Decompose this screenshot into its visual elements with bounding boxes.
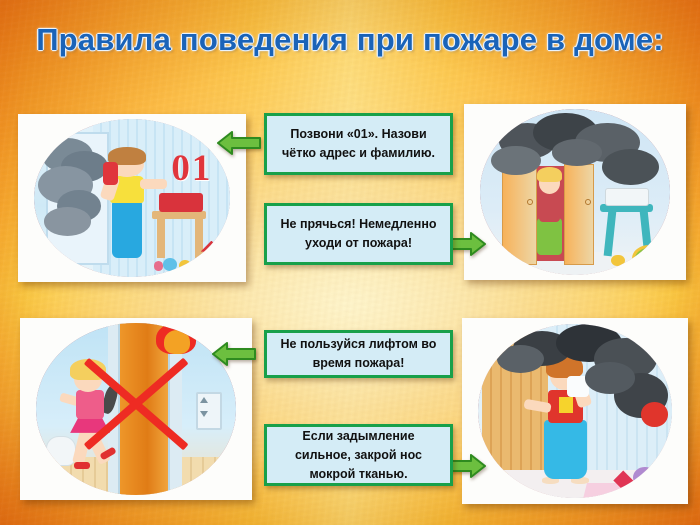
picture-girl-covering-nose-with-cloth: [462, 318, 688, 504]
girl-hair: [537, 167, 562, 182]
toy-ball: [633, 467, 656, 488]
door-knob: [585, 199, 591, 205]
tip-box-no-elevator: Не пользуйся лифтом во время пожара!: [264, 330, 453, 378]
wardrobe-door-right: [564, 164, 595, 265]
picture-frame: [464, 104, 686, 280]
picture-frame: [462, 318, 688, 504]
tip-box-cover-nose: Если задымление сильное, закрой нос мокр…: [264, 424, 453, 486]
arrow-left-icon: [217, 130, 261, 156]
circular-vignette: [36, 323, 236, 494]
smoke-puff: [552, 139, 602, 165]
smoke-puff: [491, 146, 541, 176]
toy-ball: [163, 258, 177, 271]
girl-shoe: [74, 462, 90, 469]
toy-ball: [179, 260, 191, 271]
table-leg: [195, 217, 203, 258]
smoke-puff: [602, 149, 659, 185]
open-book: [606, 189, 648, 206]
smoke-puff: [44, 207, 91, 235]
arrow-down-icon: [200, 411, 208, 417]
toy-duck: [611, 255, 624, 267]
stool-leg: [603, 210, 615, 257]
circular-vignette: [478, 324, 672, 499]
page-title: Правила поведения при пожаре в доме:: [34, 22, 666, 58]
scene-boy-calling: 01: [34, 119, 230, 277]
scene-cover-nose: [478, 324, 672, 499]
shirt-logo: [559, 397, 573, 413]
cat-shape: [46, 436, 76, 465]
toy-bowl: [632, 245, 667, 273]
smoke-puff: [497, 345, 544, 373]
boy-arm-right: [140, 179, 167, 188]
circular-vignette: 01: [34, 119, 230, 277]
girl-shirt: [539, 195, 560, 221]
picture-girl-hiding-in-wardrobe: [464, 104, 686, 280]
tip-text: Не прячься! Немедленно уходи от пожара!: [275, 215, 442, 253]
girl-shirt: [76, 390, 104, 419]
scene-girl-hiding: [480, 109, 671, 274]
table-leg: [157, 217, 165, 258]
phone-handset: [103, 162, 119, 186]
wardrobe-door-left: [502, 164, 536, 265]
arrow-up-icon: [200, 397, 208, 403]
door-knob: [527, 199, 533, 205]
boy-legs: [112, 201, 141, 258]
flame-inner-shape: [164, 330, 190, 354]
girl-legs: [537, 218, 562, 254]
telephone-set: [159, 193, 202, 212]
tip-text: Если задымление сильное, закрой нос мокр…: [275, 427, 442, 484]
circular-vignette: [480, 109, 671, 274]
tip-box-call-01: Позвони «01». Назови чётко адрес и фамил…: [264, 113, 453, 175]
toy-ball: [154, 261, 164, 270]
flame-shape: [641, 402, 668, 426]
scene-elevator-forbidden: [36, 323, 236, 494]
girl-trousers: [544, 420, 587, 479]
tip-box-do-not-hide: Не прячься! Немедленно уходи от пожара!: [264, 203, 453, 265]
slide-root: Правила поведения при пожаре в доме:: [0, 0, 700, 525]
tip-text: Не пользуйся лифтом во время пожара!: [275, 335, 442, 373]
smoke-puff: [585, 362, 636, 393]
picture-frame: 01: [18, 114, 246, 282]
emergency-number-label: 01: [171, 147, 212, 190]
picture-boy-calling-fire-service: 01: [18, 114, 246, 282]
tip-text: Позвони «01». Назови чётко адрес и фамил…: [275, 125, 442, 163]
arrow-left-icon: [212, 341, 256, 367]
